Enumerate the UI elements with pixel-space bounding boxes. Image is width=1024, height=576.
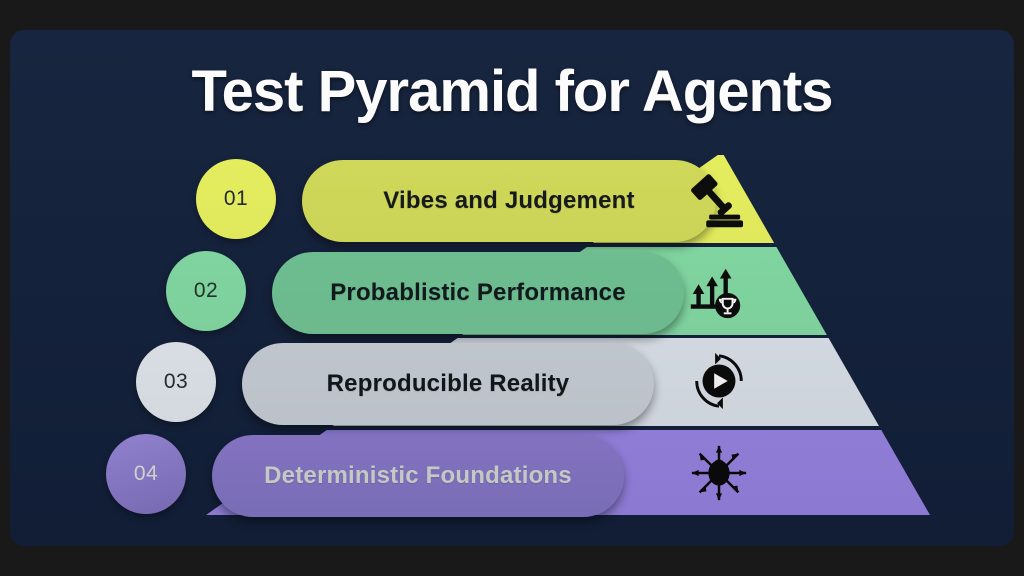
layer-number-badge-4: 04 bbox=[106, 434, 186, 514]
layer-bar-1[interactable]: Vibes and Judgement bbox=[302, 160, 716, 242]
layer-number-3: 03 bbox=[164, 370, 188, 394]
replay-icon bbox=[688, 350, 750, 412]
layer-label-2: Probablistic Performance bbox=[330, 279, 626, 307]
slide-frame: Test Pyramid for Agents 01 bbox=[0, 0, 1024, 576]
layer-bar-4[interactable]: Deterministic Foundations bbox=[212, 435, 624, 517]
layer-number-4: 04 bbox=[134, 462, 158, 486]
layer-number-2: 02 bbox=[194, 279, 218, 303]
slide-panel: Test Pyramid for Agents 01 bbox=[10, 30, 1014, 546]
pyramid-row-1[interactable]: 01 Vibes and Judgement bbox=[10, 155, 1014, 243]
layer-number-badge-3: 03 bbox=[136, 342, 216, 422]
layer-number-1: 01 bbox=[224, 187, 248, 211]
layer-number-badge-1: 01 bbox=[196, 159, 276, 239]
pyramid-row-2[interactable]: 02 Probablistic Performance bbox=[10, 247, 1014, 335]
pyramid-row-3[interactable]: 03 Reproducible Reality bbox=[10, 338, 1014, 426]
growth-trophy-icon bbox=[685, 261, 747, 323]
bug-debug-icon bbox=[688, 442, 750, 504]
layer-bar-2[interactable]: Probablistic Performance bbox=[272, 252, 684, 334]
gavel-icon bbox=[682, 171, 744, 233]
layer-label-1: Vibes and Judgement bbox=[383, 187, 634, 215]
layer-label-3: Reproducible Reality bbox=[327, 370, 570, 398]
layer-number-badge-2: 02 bbox=[166, 251, 246, 331]
layer-label-4: Deterministic Foundations bbox=[264, 462, 572, 490]
layer-bar-3[interactable]: Reproducible Reality bbox=[242, 343, 654, 425]
pyramid-row-4[interactable]: 04 Deterministic Foundations bbox=[10, 430, 1014, 518]
